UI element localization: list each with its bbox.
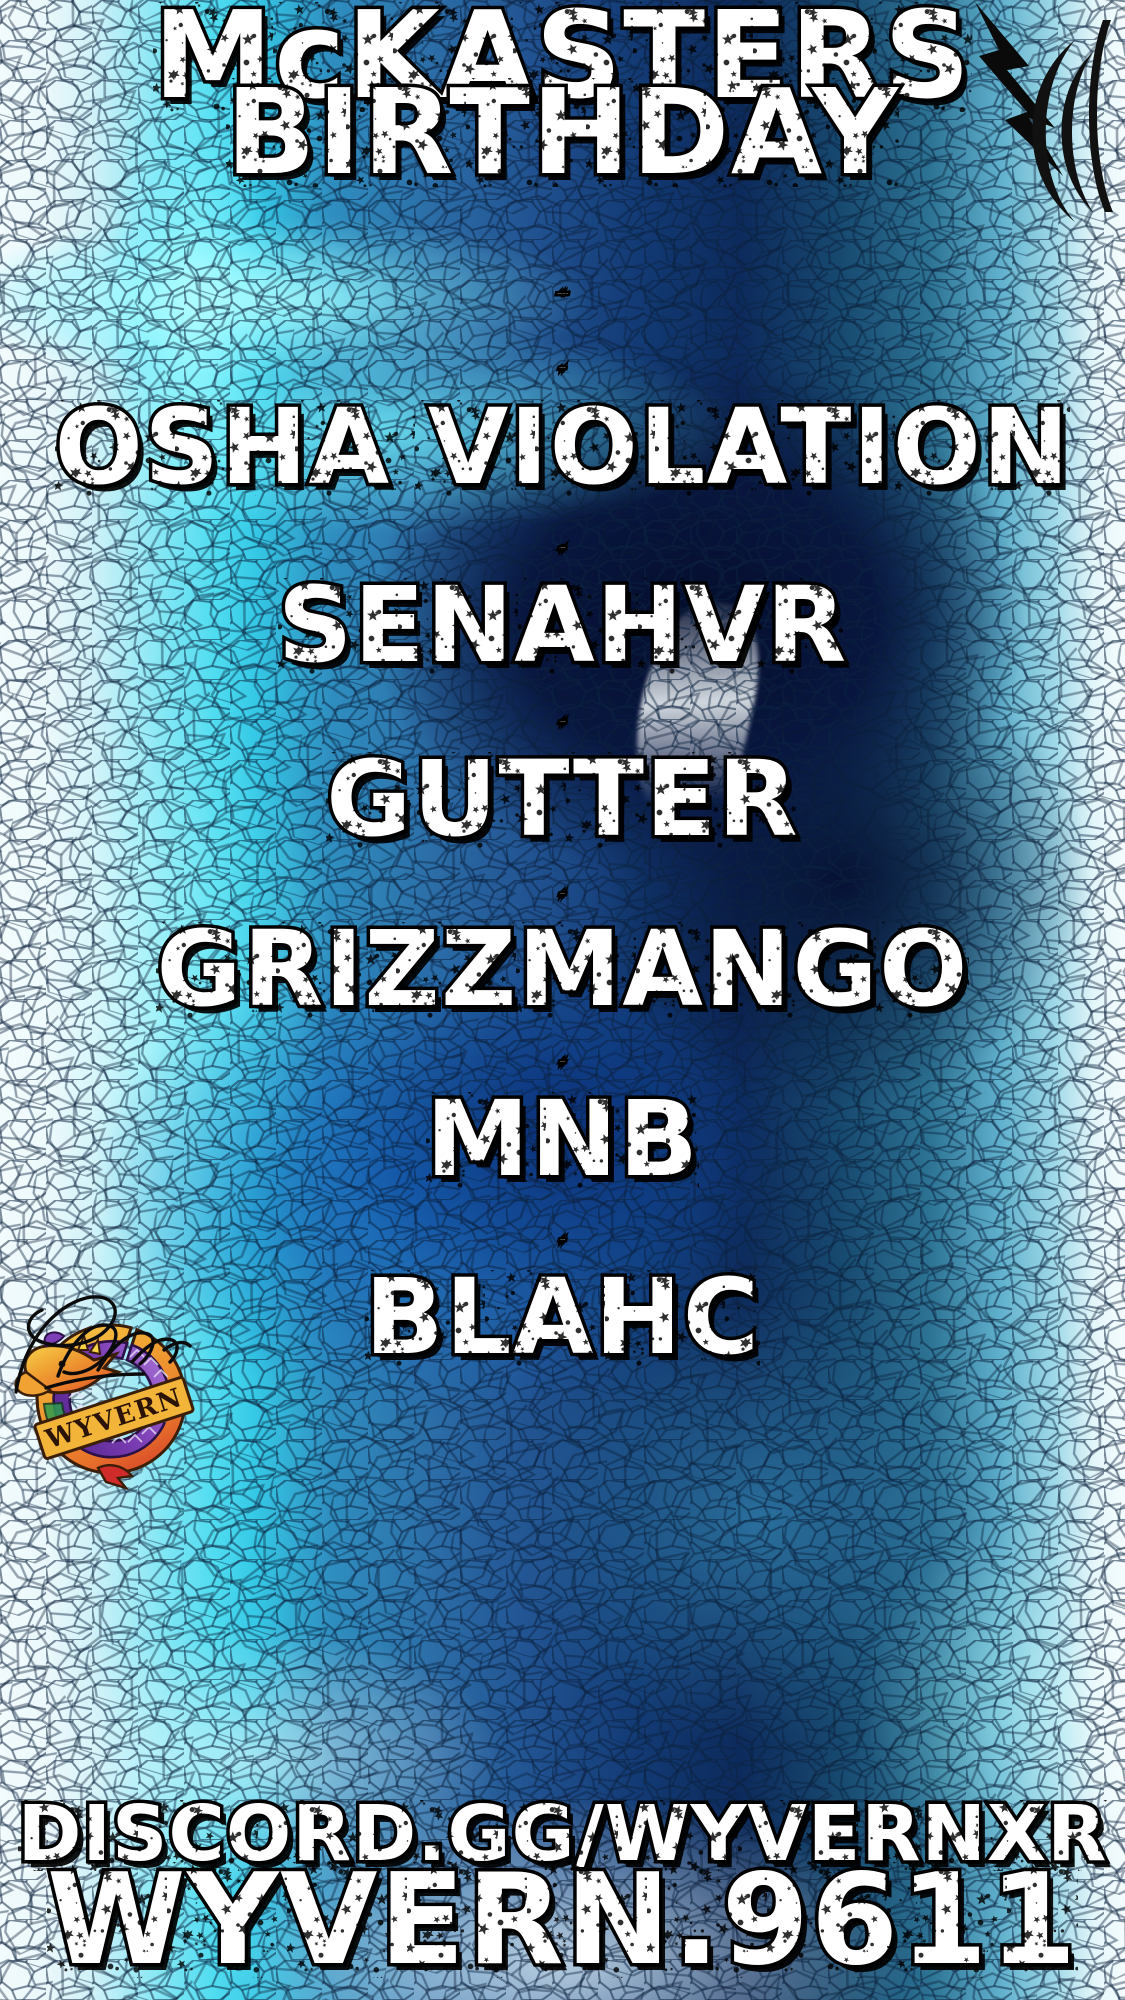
- lineup-slot-time: 10pm/3am: [0, 368, 1125, 369]
- event-flyer: McKASTERS BIRTHDAY SFW 18+ Verified Grou…: [0, 0, 1125, 2000]
- lineup-artist-label: SENAHVR: [278, 564, 848, 686]
- lineup-artist-label: OSHA VIOLATION: [55, 386, 1071, 508]
- lineup-artist-label: MNB: [426, 1078, 700, 1200]
- page-title-line2: BIRTHDAY: [0, 78, 1125, 187]
- lineup-slot-time: 12am/5am: [0, 722, 1125, 723]
- lineup-artist-label: GUTTER: [326, 738, 799, 860]
- lineup-slot-time: 1am/6am: [0, 894, 1125, 895]
- lineup-slot-time: 11pm/4am: [0, 548, 1125, 549]
- lineup-artist-label: GRIZZMANGO: [156, 908, 968, 1030]
- event-date: Thursday, July 31st: [0, 294, 1125, 295]
- wyvern-dragon-ouroboros-logo: WYVERN: [2, 1280, 227, 1480]
- lineup-slot-artist: OSHA VIOLATION: [0, 400, 1125, 496]
- lineup-slot-artist: GUTTER: [0, 752, 1125, 848]
- instance-handle: WYVERN.9611: [0, 1862, 1125, 1978]
- lineup-slot-time: 2am/7am: [0, 1062, 1125, 1063]
- lineup-artist-label: BLAHC: [365, 1256, 761, 1378]
- lineup-slot-time: 3am/8am: [0, 1240, 1125, 1241]
- lineup-slot-artist: SENAHVR: [0, 578, 1125, 674]
- lineup-slot-artist: GRIZZMANGO: [0, 922, 1125, 1018]
- lineup-slot-artist: MNB: [0, 1092, 1125, 1188]
